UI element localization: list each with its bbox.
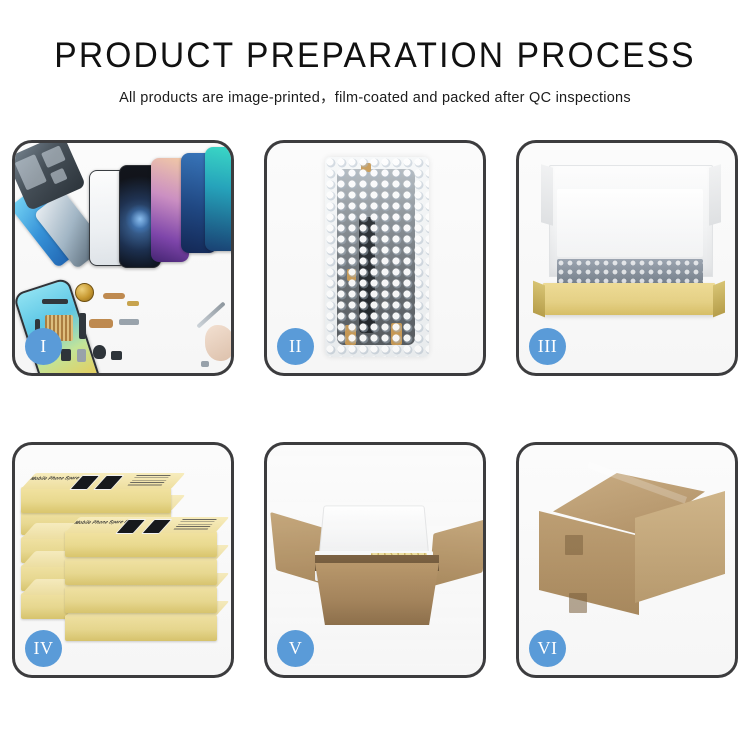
part-earpiece-icon bbox=[93, 345, 106, 359]
step-badge-2: II bbox=[277, 328, 314, 365]
part-bracket-icon bbox=[119, 319, 139, 325]
part-antenna-icon bbox=[79, 313, 86, 339]
bubble-wrap-bag-icon bbox=[325, 157, 429, 357]
stacked-box bbox=[65, 615, 217, 641]
step-badge-4: IV bbox=[25, 630, 62, 667]
step-badge-1: I bbox=[25, 328, 62, 365]
process-step-4[interactable]: Mobile Phone Spare Parts Mobile Phone Sp… bbox=[12, 442, 234, 678]
foam-sheet-icon bbox=[557, 189, 703, 257]
process-step-1[interactable]: I bbox=[12, 140, 234, 376]
process-step-5[interactable]: V bbox=[264, 442, 486, 678]
carton-tape-upper bbox=[565, 535, 583, 555]
part-chip-icon bbox=[111, 351, 122, 360]
phone-back-housing-icon bbox=[15, 143, 86, 211]
part-board-icon bbox=[89, 319, 113, 328]
part-screw-icon bbox=[201, 361, 209, 367]
part-connector-icon bbox=[127, 301, 139, 306]
part-flex-cable-icon bbox=[103, 293, 125, 299]
part-sim-tray-icon bbox=[77, 349, 86, 362]
step-badge-3: III bbox=[529, 328, 566, 365]
vibration-motor-icon bbox=[75, 283, 94, 302]
carton-body-icon bbox=[315, 563, 439, 625]
carton-flap-right-icon bbox=[429, 519, 483, 587]
page-subtitle: All products are image-printed，film-coat… bbox=[0, 75, 750, 107]
page-header: PRODUCT PREPARATION PROCESS All products… bbox=[0, 0, 750, 107]
stacked-box bbox=[65, 559, 217, 585]
bubble-texture bbox=[325, 157, 429, 357]
process-step-2[interactable]: II bbox=[264, 140, 486, 376]
stacked-box bbox=[65, 587, 217, 613]
yellow-box-tray-icon bbox=[543, 283, 715, 315]
step-badge-6: VI bbox=[529, 630, 566, 667]
open-carton-icon bbox=[285, 501, 471, 641]
sealed-carton-icon bbox=[539, 473, 725, 637]
process-step-6[interactable]: VI bbox=[516, 442, 738, 678]
carton-tape-lower bbox=[569, 593, 587, 613]
process-step-grid: I II III bbox=[12, 140, 738, 686]
step-badge-5: V bbox=[277, 630, 314, 667]
part-speaker-icon bbox=[42, 299, 68, 304]
stacked-box-printed: Mobile Phone Spare Parts bbox=[65, 531, 217, 557]
phone-display-teal-icon bbox=[205, 147, 231, 251]
stacked-box-printed: Mobile Phone Spare Parts bbox=[21, 487, 171, 513]
page-title: PRODUCT PREPARATION PROCESS bbox=[15, 0, 735, 75]
process-step-3[interactable]: III bbox=[516, 140, 738, 376]
part-button-icon bbox=[61, 349, 71, 361]
hand-icon bbox=[205, 325, 231, 361]
